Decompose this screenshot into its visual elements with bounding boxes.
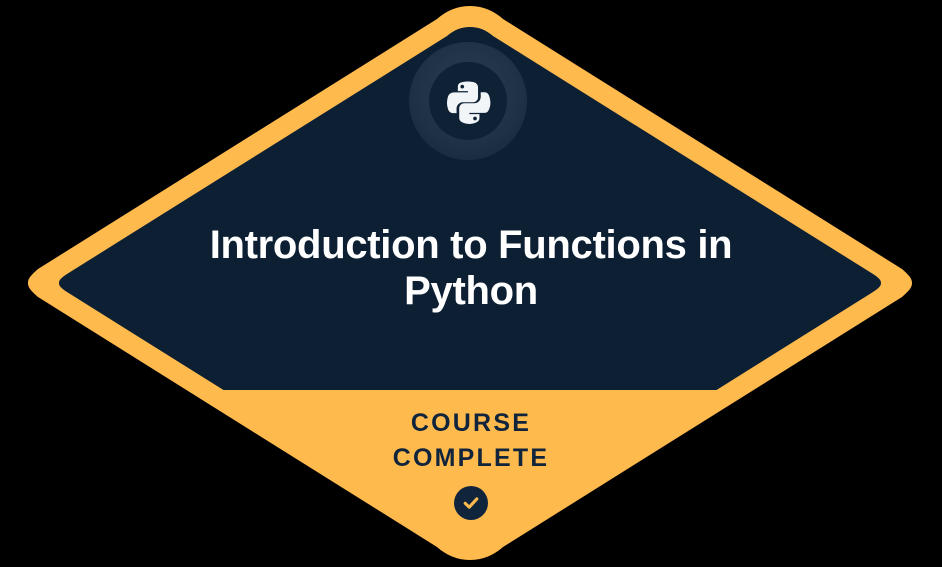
course-title: Introduction to Functions in Python [141,222,801,315]
python-emblem [409,42,527,160]
check-circle-icon [454,486,488,520]
status-label-line-1: COURSE [241,406,701,441]
course-completion-badge: Introduction to Functions in Python COUR… [0,0,942,567]
completion-status: COURSE COMPLETE [241,406,701,520]
status-label-line-2: COMPLETE [241,441,701,476]
python-logo-icon [445,78,491,124]
checkmark-icon [461,493,481,513]
